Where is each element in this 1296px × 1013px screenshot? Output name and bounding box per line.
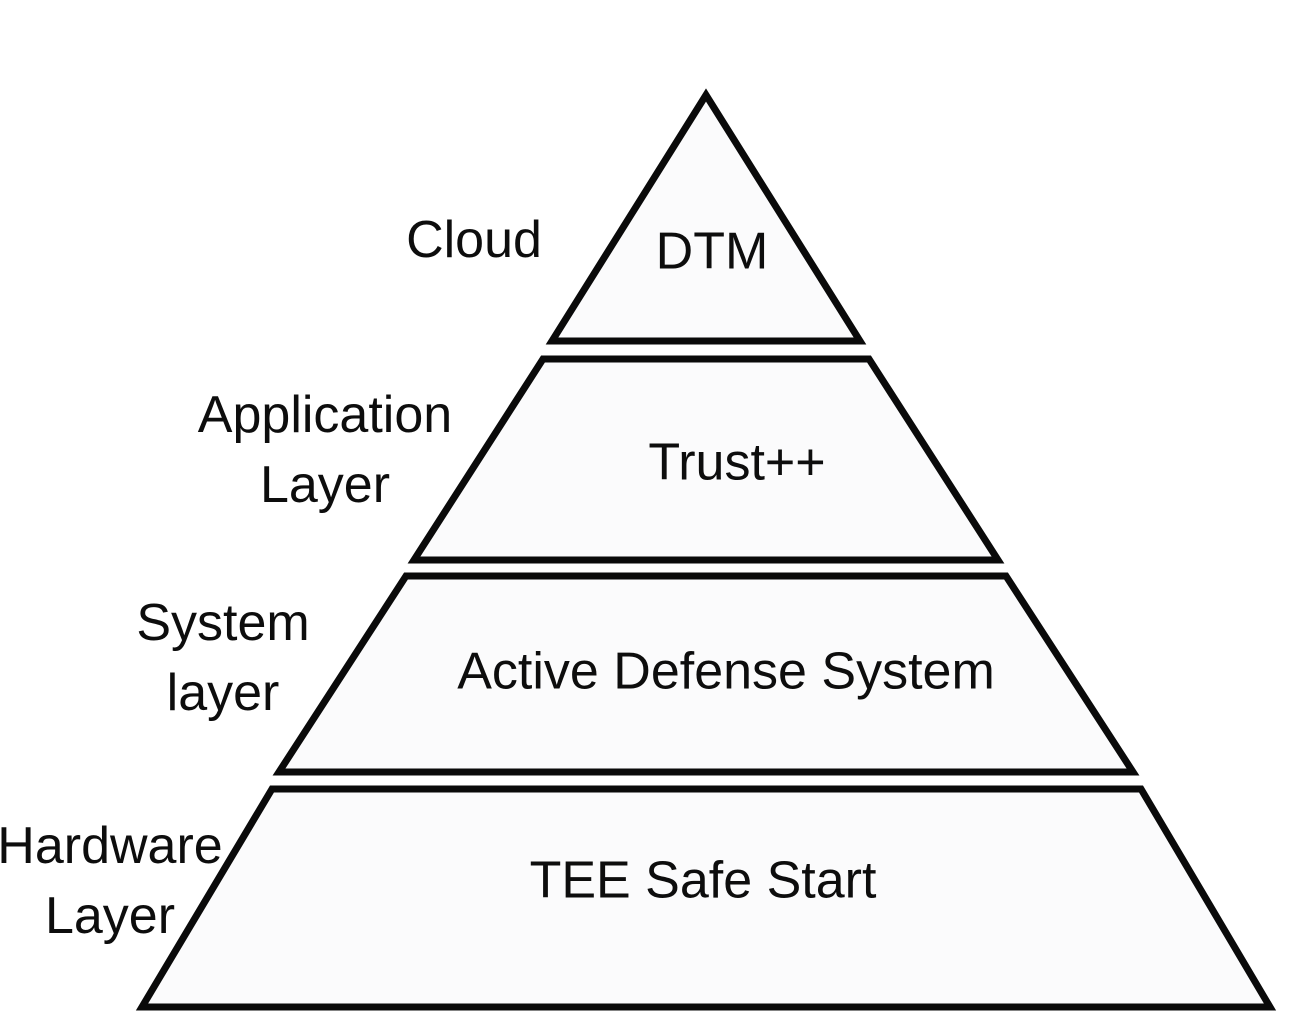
pyramid-tier-1-shape[interactable]: [552, 95, 860, 341]
tier-2-side-label-line-2: Layer: [198, 450, 452, 520]
tier-3-side-label-line-2: layer: [136, 658, 309, 728]
tier-1-inner-label: DTM: [656, 221, 769, 282]
tier-2-side-label-line-1: Application: [198, 380, 452, 450]
tier-3-inner-label: Active Defense System: [457, 641, 995, 702]
tier-1-side-label: Cloud: [406, 205, 542, 275]
pyramid-diagram-canvas: DTM Trust++ Active Defense System TEE Sa…: [0, 0, 1296, 1013]
tier-2-inner-label: Trust++: [648, 432, 825, 493]
tier-4-inner-label: TEE Safe Start: [530, 850, 877, 911]
tier-4-side-label-line-2: Layer: [0, 881, 223, 951]
tier-3-side-label-line-1: System: [136, 588, 309, 658]
tier-2-side-label: Application Layer: [198, 380, 452, 520]
tier-4-side-label: Hardware Layer: [0, 811, 223, 951]
tier-4-side-label-line-1: Hardware: [0, 811, 223, 881]
tier-1-side-label-line-1: Cloud: [406, 205, 542, 275]
tier-3-side-label: System layer: [136, 588, 309, 728]
